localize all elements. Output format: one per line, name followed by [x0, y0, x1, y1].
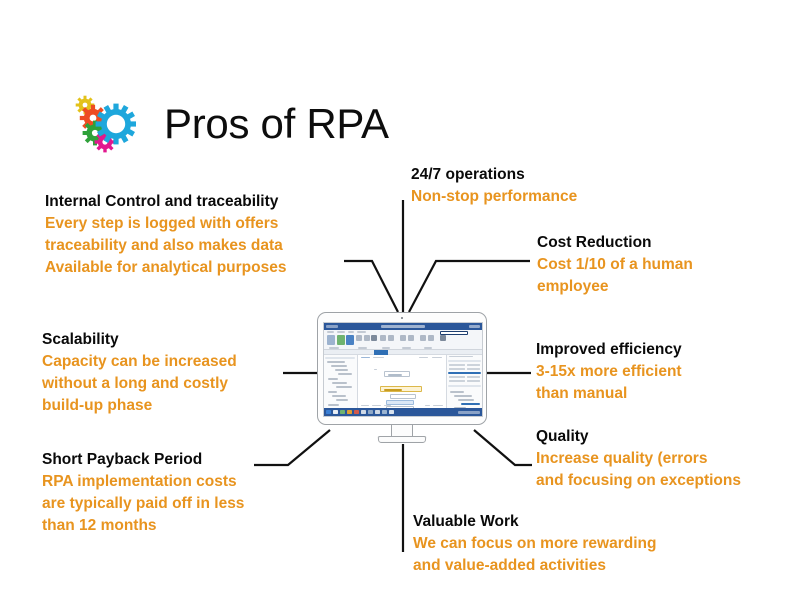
- monitor-screen: [323, 322, 483, 417]
- callout-quality: Quality Increase quality (errors and foc…: [536, 427, 741, 492]
- ribbon-icon: [388, 335, 394, 341]
- workflow-node: [390, 394, 416, 399]
- slide-header: Pros of RPA: [74, 95, 389, 153]
- callout-title: Quality: [536, 427, 741, 448]
- taskbar-system-tray: [458, 411, 480, 414]
- callout-title: Short Payback Period: [42, 450, 244, 471]
- gears-logo-icon: [74, 95, 136, 153]
- app-designer-canvas: [358, 355, 446, 408]
- ribbon-icon: [408, 335, 414, 341]
- callout-title: Valuable Work: [413, 512, 656, 533]
- callout-247-operations: 24/7 operations Non-stop performance: [411, 165, 577, 208]
- ribbon-icon: [440, 335, 446, 341]
- taskbar-app-icon: [382, 410, 387, 415]
- taskbar-app-icon: [368, 410, 373, 415]
- app-project-panel: [324, 355, 358, 408]
- taskbar-start-icon: [326, 410, 331, 415]
- monitor-bezel: [317, 312, 487, 425]
- callout-title: Scalability: [42, 330, 237, 351]
- taskbar-app-icon: [375, 410, 380, 415]
- callout-cost-reduction: Cost Reduction Cost 1/10 of a human empl…: [537, 233, 693, 298]
- slide-canvas: Pros of RPA Internal Control and traceab…: [0, 0, 799, 599]
- callout-title: Cost Reduction: [537, 233, 693, 254]
- page-title: Pros of RPA: [164, 103, 389, 145]
- desktop-monitor-illustration: [317, 312, 487, 440]
- callout-improved-efficiency: Improved efficiency 3-15x more efficient…: [536, 340, 682, 405]
- app-title-bar: [324, 323, 482, 330]
- ribbon-icon: [364, 335, 370, 341]
- callout-title: 24/7 operations: [411, 165, 577, 186]
- taskbar-app-icon: [340, 410, 345, 415]
- callout-body: RPA implementation costs are typically p…: [42, 471, 244, 537]
- callout-title: Improved efficiency: [536, 340, 682, 361]
- ribbon-icon: [346, 335, 354, 345]
- callout-body: Every step is logged with offers traceab…: [45, 213, 286, 279]
- taskbar-app-icon: [361, 410, 366, 415]
- ribbon-icon: [371, 335, 377, 341]
- app-ribbon: [324, 330, 482, 350]
- app-quick-access-toolbar: [326, 325, 338, 328]
- callout-internal-control: Internal Control and traceability Every …: [45, 192, 286, 279]
- app-window-title: [381, 325, 425, 328]
- callout-short-payback-period: Short Payback Period RPA implementation …: [42, 450, 244, 537]
- ribbon-icon: [327, 335, 335, 345]
- callout-valuable-work: Valuable Work We can focus on more rewar…: [413, 512, 656, 577]
- callout-body: Increase quality (errors and focusing on…: [536, 448, 741, 492]
- ribbon-icon: [428, 335, 434, 341]
- ribbon-icon: [356, 335, 362, 341]
- taskbar-app-icon: [333, 410, 338, 415]
- app-properties-panel: [446, 355, 482, 408]
- taskbar-app-icon: [347, 410, 352, 415]
- workflow-node: [384, 371, 410, 377]
- callout-body: Non-stop performance: [411, 186, 577, 208]
- monitor-stand-base: [378, 436, 427, 443]
- callout-body: Capacity can be increased without a long…: [42, 351, 237, 417]
- callout-scalability: Scalability Capacity can be increased wi…: [42, 330, 237, 417]
- ribbon-icon: [337, 335, 345, 345]
- callout-body: 3-15x more efficient than manual: [536, 361, 682, 405]
- taskbar-app-icon: [389, 410, 394, 415]
- connector-internal-control: [344, 261, 398, 312]
- callout-body: Cost 1/10 of a human employee: [537, 254, 693, 298]
- ribbon-icon: [380, 335, 386, 341]
- taskbar-app-icon: [354, 410, 359, 415]
- window-controls: [469, 325, 480, 328]
- workflow-node-selected: [380, 386, 422, 392]
- callout-title: Internal Control and traceability: [45, 192, 286, 213]
- windows-taskbar: [324, 408, 482, 416]
- connector-cost-reduction: [409, 261, 530, 312]
- rpa-studio-app-screenshot: [324, 323, 482, 416]
- ribbon-icon: [420, 335, 426, 341]
- webcam-icon: [401, 317, 404, 320]
- ribbon-icon: [400, 335, 406, 341]
- callout-body: We can focus on more rewarding and value…: [413, 533, 656, 577]
